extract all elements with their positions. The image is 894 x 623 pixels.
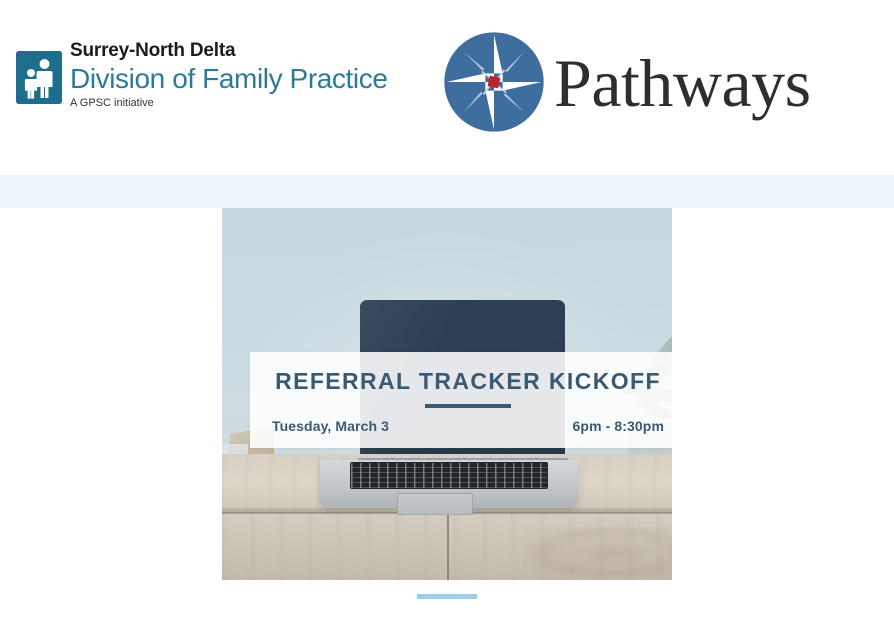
dfp-region-name: Surrey-North Delta xyxy=(70,40,388,62)
flyer-title: REFERRAL TRACKER KICKOFF xyxy=(250,368,672,395)
pathways-logo[interactable]: Pathways xyxy=(440,28,811,136)
email-newsletter-page: Surrey-North Delta Division of Family Pr… xyxy=(0,0,894,623)
division-of-family-practice-logo[interactable]: Surrey-North Delta Division of Family Pr… xyxy=(16,38,388,109)
family-figures-icon xyxy=(16,51,62,104)
header-accent-band xyxy=(0,175,894,208)
photo-laptop-keyboard xyxy=(350,462,548,489)
content-divider xyxy=(417,594,477,599)
flyer-banner: REFERRAL TRACKER KICKOFF Tuesday, March … xyxy=(250,352,672,448)
flyer-title-underline xyxy=(425,404,511,408)
dfp-organization-name: Division of Family Practice xyxy=(70,63,388,94)
photo-drawer-seam xyxy=(447,513,449,580)
flyer-time: 6pm - 8:30pm xyxy=(573,418,664,434)
event-flyer-image[interactable]: REFERRAL TRACKER KICKOFF Tuesday, March … xyxy=(222,208,672,580)
photo-wood-grain xyxy=(522,526,672,580)
pathways-wordmark: Pathways xyxy=(554,49,811,117)
photo-laptop-trackpad xyxy=(397,493,473,515)
page-header: Surrey-North Delta Division of Family Pr… xyxy=(0,0,894,175)
dfp-tagline: A GPSC initiative xyxy=(70,98,388,109)
dfp-text-block: Surrey-North Delta Division of Family Pr… xyxy=(70,38,388,109)
compass-star-icon xyxy=(440,28,548,136)
dfp-lockup: Surrey-North Delta Division of Family Pr… xyxy=(16,38,388,109)
photo-laptop-keys xyxy=(351,463,547,488)
page-content: REFERRAL TRACKER KICKOFF Tuesday, March … xyxy=(0,208,894,623)
flyer-date: Tuesday, March 3 xyxy=(272,418,389,434)
